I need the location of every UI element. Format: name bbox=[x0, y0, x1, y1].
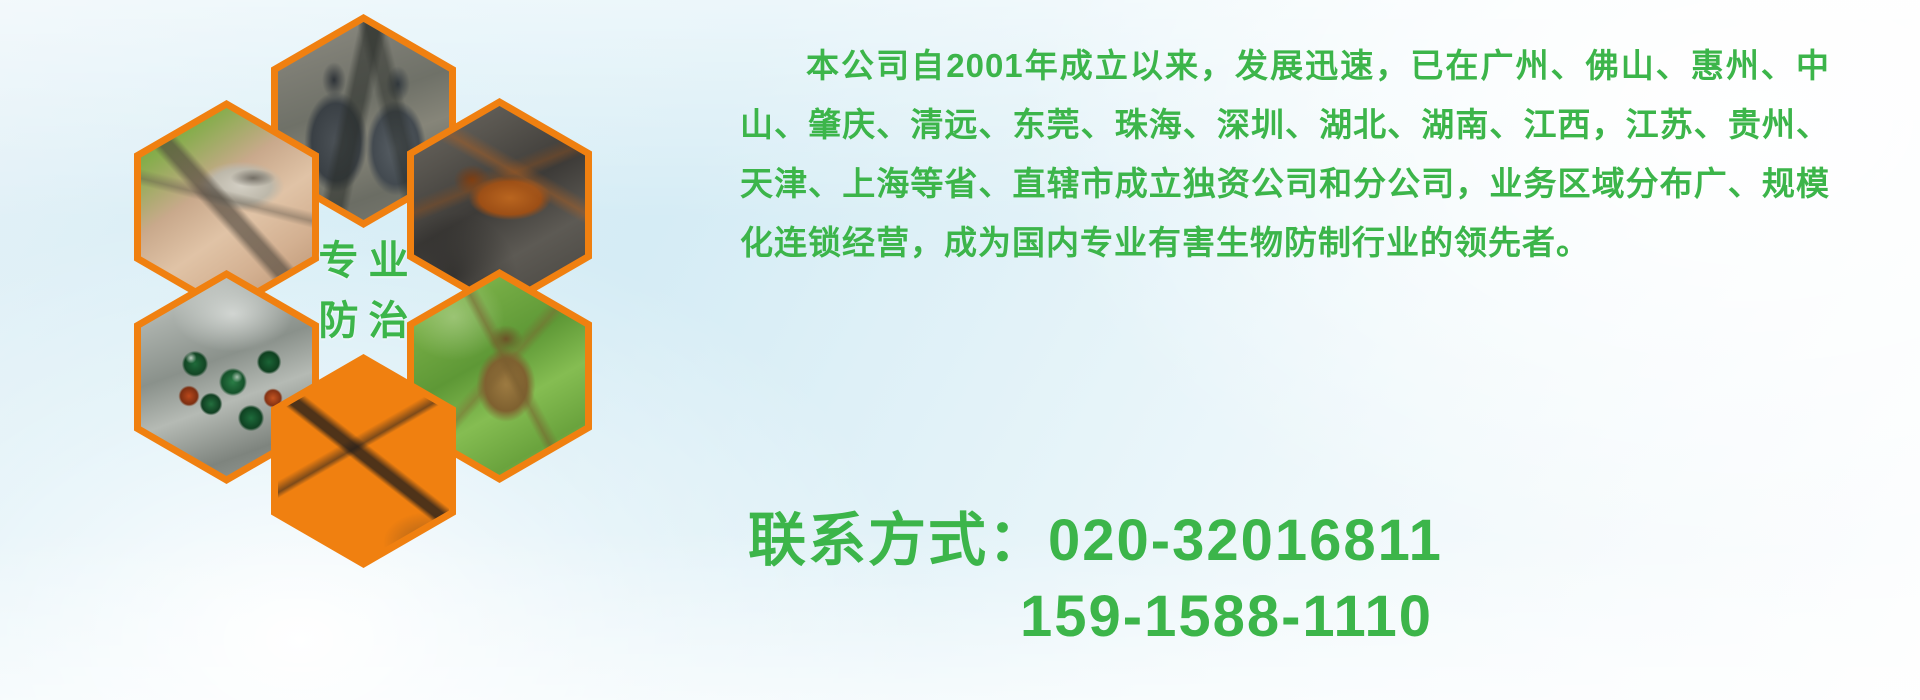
honeycomb-collage: 专业 防治 bbox=[96, 6, 716, 576]
pest-control-banner: 专业 防治 本公司自2001年成立以来，发展迅速，已在广州、佛山、惠州、中山、肇… bbox=[0, 0, 1920, 700]
about-copy-block: 本公司自2001年成立以来，发展迅速，已在广州、佛山、惠州、中山、肇庆、清远、东… bbox=[740, 36, 1830, 272]
contact-phone-primary[interactable]: 联系方式：020-32016811 bbox=[748, 503, 1848, 579]
contact-phone-secondary[interactable]: 159-1588-1110 bbox=[748, 579, 1848, 655]
center-label-line-1: 专业 bbox=[309, 241, 419, 281]
contact-block: 联系方式：020-32016811 159-1588-1110 bbox=[748, 503, 1848, 655]
about-paragraph: 本公司自2001年成立以来，发展迅速，已在广州、佛山、惠州、中山、肇庆、清远、东… bbox=[740, 36, 1830, 272]
center-label-line-2: 防治 bbox=[309, 301, 419, 341]
